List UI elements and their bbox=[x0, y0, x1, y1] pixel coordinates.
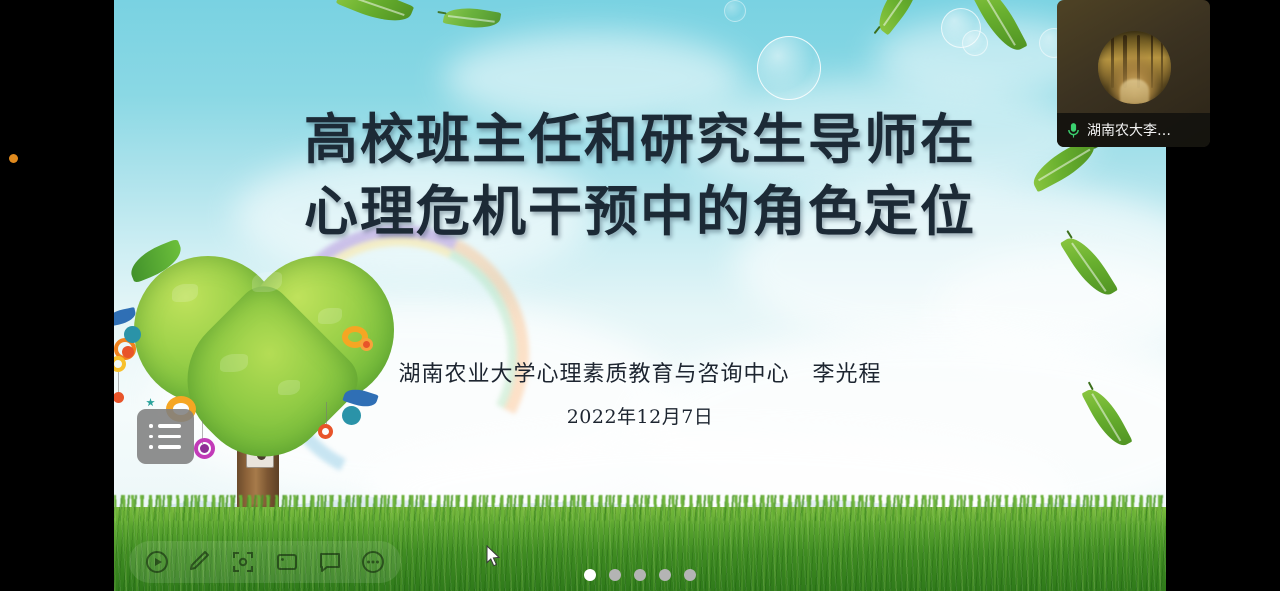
arrow-cursor bbox=[486, 545, 502, 567]
avatar bbox=[1098, 31, 1171, 104]
deco-dot bbox=[200, 444, 209, 453]
participant-name: 湖南农大李… bbox=[1087, 120, 1171, 140]
recording-dot bbox=[9, 154, 18, 163]
bird-shape bbox=[124, 326, 141, 343]
slide-byline: 湖南农业大学心理素质教育与咨询中心 李光程 bbox=[114, 356, 1166, 388]
microphone-icon bbox=[1067, 122, 1080, 139]
bubble-icon bbox=[757, 36, 821, 100]
bubble-icon bbox=[962, 30, 988, 56]
presentation-slide[interactable]: 高校班主任和研究生导师在 心理危机干预中的角色定位 湖南农业大学心理素质教育与咨… bbox=[114, 0, 1166, 591]
page-dot-1[interactable] bbox=[584, 569, 596, 581]
page-dot-5[interactable] bbox=[684, 569, 696, 581]
deco-dot bbox=[360, 338, 373, 351]
list-bullet-icon bbox=[149, 445, 153, 449]
participant-video-tile[interactable]: 湖南农大李… bbox=[1057, 0, 1210, 147]
list-bullet-icon bbox=[149, 435, 153, 439]
slide-pagination[interactable] bbox=[114, 569, 1166, 581]
page-dot-3[interactable] bbox=[634, 569, 646, 581]
screen-root: 高校班主任和研究生导师在 心理危机干预中的角色定位 湖南农业大学心理素质教育与咨… bbox=[0, 0, 1280, 591]
page-dot-2[interactable] bbox=[609, 569, 621, 581]
falling-leaf bbox=[443, 3, 502, 32]
slide-date: 2022年12月7日 bbox=[114, 402, 1166, 429]
list-menu-button[interactable] bbox=[137, 409, 194, 464]
list-bullet-icon bbox=[149, 424, 153, 428]
falling-leaf bbox=[336, 0, 414, 31]
participant-label: 湖南农大李… bbox=[1057, 113, 1210, 147]
page-dot-4[interactable] bbox=[659, 569, 671, 581]
bubble-icon bbox=[724, 0, 746, 22]
slide-title: 高校班主任和研究生导师在 心理危机干预中的角色定位 bbox=[114, 104, 1166, 248]
